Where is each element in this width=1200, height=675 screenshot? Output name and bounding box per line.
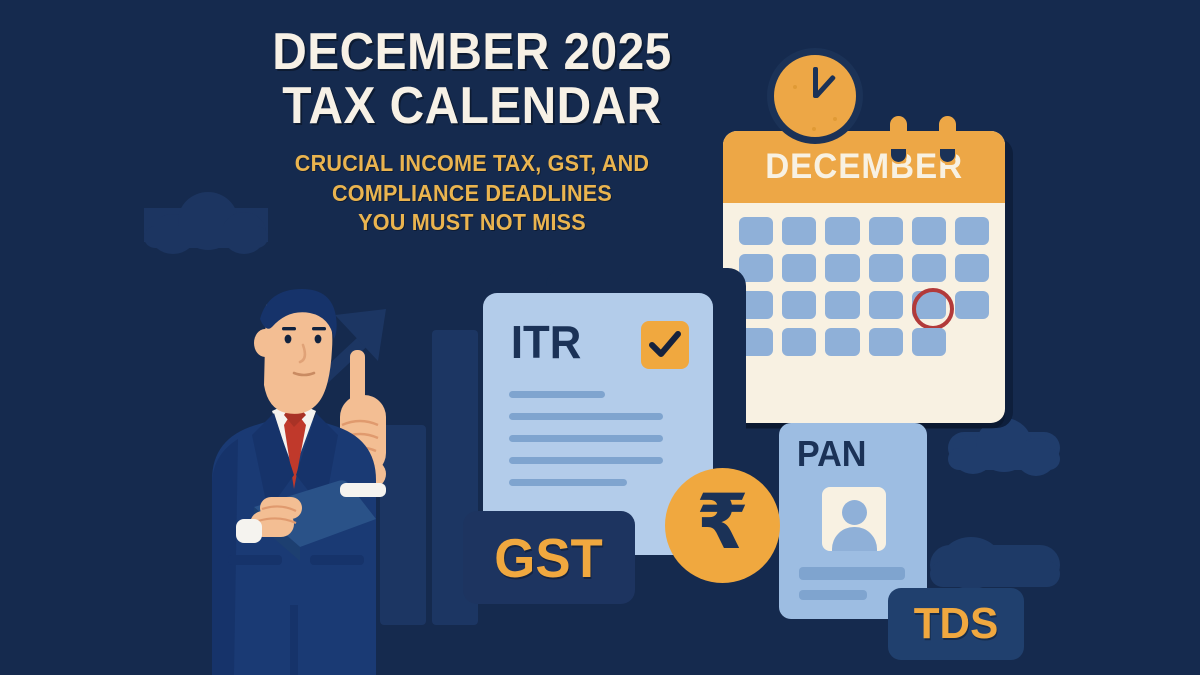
subtitle-line-3: YOU MUST NOT MISS — [237, 208, 707, 237]
rupee-coin-icon: ₹ — [665, 468, 780, 583]
calendar-day-cell-marked[interactable] — [912, 291, 946, 319]
tds-label: TDS — [914, 599, 998, 649]
title-line-1: DECEMBER 2025 — [272, 23, 671, 81]
calendar-day-cell[interactable] — [825, 254, 859, 282]
itr-label: ITR — [511, 315, 581, 369]
checkmark-glyph — [649, 330, 681, 360]
page-subtitle: CRUCIAL INCOME TAX, GST, AND COMPLIANCE … — [237, 149, 707, 237]
title-line-2: TAX CALENDAR — [242, 80, 702, 134]
calendar-day-cell[interactable] — [782, 328, 816, 356]
avatar-head — [842, 500, 867, 525]
page-title: DECEMBER 2025 TAX CALENDAR — [242, 26, 702, 133]
calendar-day-cell[interactable] — [869, 291, 903, 319]
gst-label: GST — [495, 526, 604, 590]
calendar-day-cell[interactable] — [955, 217, 989, 245]
calendar-day-cell[interactable] — [825, 328, 859, 356]
tds-badge[interactable]: TDS — [888, 588, 1024, 660]
businessman-svg — [190, 275, 490, 675]
checkmark-icon[interactable] — [641, 321, 689, 369]
calendar-day-cell[interactable] — [782, 254, 816, 282]
calendar-day-cell[interactable] — [955, 254, 989, 282]
pan-text-line — [799, 590, 867, 600]
calendar-day-cell[interactable] — [739, 217, 773, 245]
avatar-body — [832, 527, 877, 551]
businessman-illustration — [190, 275, 490, 675]
calendar-day-cell[interactable] — [912, 254, 946, 282]
pan-label: PAN — [797, 433, 867, 475]
itr-text-line — [509, 457, 663, 464]
calendar-day-cell[interactable] — [869, 217, 903, 245]
calendar-ring-2 — [939, 116, 956, 164]
pan-text-line — [799, 567, 905, 580]
calendar-grid — [723, 203, 1005, 356]
itr-text-line — [509, 479, 627, 486]
calendar-day-cell[interactable] — [782, 291, 816, 319]
itr-text-line — [509, 391, 605, 398]
calendar-day-cell[interactable] — [869, 254, 903, 282]
itr-text-line — [509, 435, 663, 442]
calendar-day-cell[interactable] — [825, 291, 859, 319]
gst-badge[interactable]: GST — [463, 511, 635, 604]
person-avatar-icon — [822, 487, 886, 551]
calendar-month-label: DECEMBER — [765, 147, 963, 187]
subtitle-line-1: CRUCIAL INCOME TAX, GST, AND — [237, 149, 707, 178]
calendar-day-cell[interactable] — [912, 328, 946, 356]
clock-icon — [767, 48, 863, 144]
head-illustration — [254, 289, 337, 414]
calendar-day-cell[interactable] — [825, 217, 859, 245]
rupee-symbol: ₹ — [665, 484, 780, 560]
cloud-icon-right — [948, 432, 1060, 464]
calendar-day-cell[interactable] — [955, 291, 989, 319]
calendar-ring-1 — [890, 116, 907, 164]
itr-text-line — [509, 413, 663, 420]
calendar-header: DECEMBER — [723, 131, 1005, 203]
calendar-day-cell[interactable] — [782, 217, 816, 245]
cloud-icon-bottom-right — [930, 545, 1060, 585]
calendar-body: DECEMBER — [723, 131, 1005, 423]
calendar-day-cell[interactable] — [869, 328, 903, 356]
headline-block: DECEMBER 2025 TAX CALENDAR CRUCIAL INCOM… — [222, 26, 722, 237]
poster-canvas: DECEMBER 2025 TAX CALENDAR CRUCIAL INCOM… — [0, 0, 1200, 675]
subtitle-line-2: COMPLIANCE DEADLINES — [237, 179, 707, 208]
calendar-illustration: DECEMBER — [723, 48, 1013, 408]
calendar-day-cell[interactable] — [912, 217, 946, 245]
